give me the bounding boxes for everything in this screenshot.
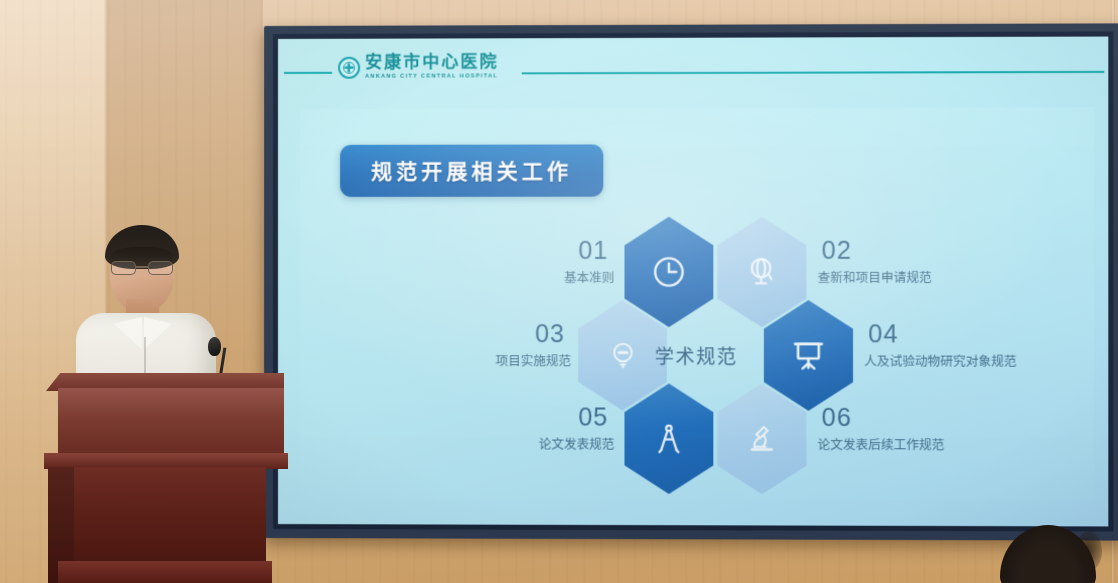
hex-label-01: 01 基本准则 xyxy=(463,239,614,285)
speaker-glasses-icon xyxy=(111,261,173,276)
hex-label-03: 03 项目实施规范 xyxy=(418,322,571,368)
hex-label-05: 05 论文发表规范 xyxy=(463,405,614,451)
hex-label-06: 06 论文发表后续工作规范 xyxy=(818,406,1072,453)
hex-caption-02: 查新和项目申请规范 xyxy=(818,271,1052,285)
honeycomb-diagram: 学术规范 01 基本准则 02 查新和项目申请规范 03 项目实施规范 04 人… xyxy=(278,206,1108,509)
hospital-name-block: 安康市中心医院 ANKANG CITY CENTRAL HOSPITAL xyxy=(365,54,499,80)
presentation-slide: 安康市中心医院 ANKANG CITY CENTRAL HOSPITAL 规范开… xyxy=(278,37,1108,527)
header-rule-right xyxy=(522,71,1104,74)
hex-caption-03: 项目实施规范 xyxy=(418,354,571,368)
hex-caption-06: 论文发表后续工作规范 xyxy=(818,438,1072,452)
speaker-at-podium xyxy=(48,225,278,583)
microphone-icon xyxy=(208,337,221,356)
podium-body xyxy=(70,467,266,563)
glasses-lens-right xyxy=(148,261,173,275)
hex-caption-05: 论文发表规范 xyxy=(463,437,614,451)
slide-title-banner: 规范开展相关工作 xyxy=(340,144,603,196)
compass-icon xyxy=(652,420,686,458)
hex-number-01: 01 xyxy=(463,239,608,264)
hospital-logo: 安康市中心医院 ANKANG CITY CENTRAL HOSPITAL xyxy=(338,54,499,80)
projection-screen: 安康市中心医院 ANKANG CITY CENTRAL HOSPITAL 规范开… xyxy=(264,23,1118,540)
clock-icon xyxy=(650,253,688,291)
conference-room-photo: 安康市中心医院 ANKANG CITY CENTRAL HOSPITAL 规范开… xyxy=(0,0,1118,583)
podium-front-panel xyxy=(58,388,284,460)
hex-label-02: 02 查新和项目申请规范 xyxy=(818,239,1052,285)
microscope-icon xyxy=(745,420,779,458)
glasses-lens-left xyxy=(111,261,136,275)
easel-icon xyxy=(790,336,826,374)
honeycomb-center-label: 学术规范 xyxy=(631,342,762,369)
hex-number-03: 03 xyxy=(418,322,565,347)
podium-base xyxy=(58,561,272,583)
hospital-name-en: ANKANG CITY CENTRAL HOSPITAL xyxy=(365,74,499,80)
hospital-name-cn: 安康市中心医院 xyxy=(365,54,499,71)
slide-header: 安康市中心医院 ANKANG CITY CENTRAL HOSPITAL xyxy=(278,51,1108,93)
globe-icon xyxy=(744,253,780,291)
hex-caption-04: 人及试验动物研究对象规范 xyxy=(864,355,1108,369)
header-rule-left xyxy=(284,72,332,74)
slide-title-text: 规范开展相关工作 xyxy=(371,156,572,186)
hex-number-06: 06 xyxy=(822,406,1072,432)
hex-number-05: 05 xyxy=(463,405,608,430)
hex-label-04: 04 人及试验动物研究对象规范 xyxy=(864,322,1108,368)
hex-number-04: 04 xyxy=(868,322,1108,347)
hospital-emblem-icon xyxy=(338,56,360,78)
hex-caption-01: 基本准则 xyxy=(463,271,614,285)
glasses-bridge xyxy=(136,266,148,268)
hex-number-02: 02 xyxy=(822,239,1052,264)
